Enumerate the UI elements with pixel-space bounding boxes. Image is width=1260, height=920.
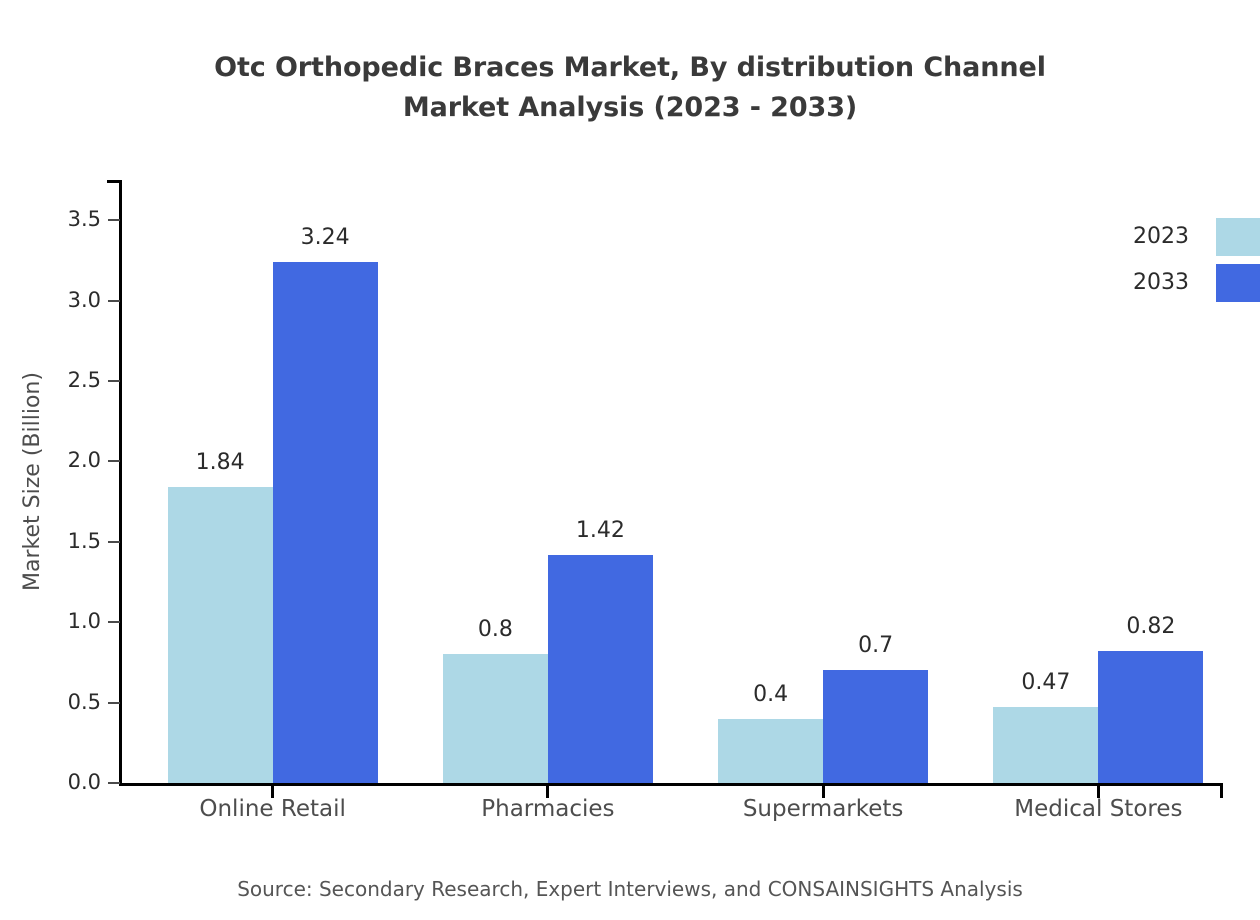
bar-2023-pharmacies[interactable]	[443, 654, 548, 783]
y-axis-tick-label: 2.0	[36, 450, 101, 471]
y-axis-tick	[108, 460, 120, 462]
x-axis-tick-label: Supermarkets	[743, 795, 904, 823]
y-axis-tick	[108, 219, 120, 221]
legend-swatch-2033	[1216, 264, 1260, 302]
x-axis-end-tick	[1220, 783, 1223, 798]
legend-item-2023[interactable]: 2023	[1118, 214, 1260, 260]
source-note: Source: Secondary Research, Expert Inter…	[0, 877, 1260, 901]
y-axis-tick	[108, 702, 120, 704]
bar-value-label: 0.7	[858, 635, 893, 657]
chart-title-line-2: Market Analysis (2023 - 2033)	[0, 88, 1260, 128]
y-axis-tick-label: 2.5	[36, 370, 101, 391]
bar-value-label: 3.24	[301, 227, 350, 249]
chart-title: Otc Orthopedic Braces Market, By distrib…	[0, 48, 1260, 128]
plot-area: 0.00.51.01.52.02.53.03.5 Online RetailPh…	[121, 180, 1222, 783]
legend-label-2033: 2033	[1133, 272, 1189, 294]
bar-value-label: 0.4	[753, 684, 788, 706]
bar-value-label: 1.84	[196, 452, 245, 474]
chart-figure: Otc Orthopedic Braces Market, By distrib…	[0, 0, 1260, 920]
y-axis-tick-label: 0.0	[36, 772, 101, 793]
y-axis-tick	[108, 380, 120, 382]
y-axis-tick	[108, 541, 120, 543]
x-axis-spine	[119, 783, 1223, 786]
legend-label-2023: 2023	[1133, 226, 1189, 248]
legend-item-2033[interactable]: 2033	[1118, 260, 1260, 306]
y-axis-spine	[119, 180, 122, 783]
y-axis-tick-label: 1.0	[36, 611, 101, 632]
y-axis-tick-label: 1.5	[36, 531, 101, 552]
x-axis-tick-label: Medical Stores	[1014, 795, 1182, 823]
bar-value-label: 0.47	[1021, 672, 1070, 694]
bar-2033-pharmacies[interactable]	[548, 555, 653, 783]
bar-2023-online-retail[interactable]	[168, 487, 273, 783]
chart-legend: 2023 2033	[1118, 214, 1260, 306]
y-axis-tick	[108, 300, 120, 302]
y-axis-tick	[108, 782, 120, 784]
bar-value-label: 0.8	[478, 619, 513, 641]
bar-2033-medical-stores[interactable]	[1098, 651, 1203, 783]
y-axis-tick	[108, 621, 120, 623]
bar-value-label: 1.42	[576, 520, 625, 542]
y-axis-tick-label: 0.5	[36, 692, 101, 713]
chart-title-line-1: Otc Orthopedic Braces Market, By distrib…	[0, 48, 1260, 88]
y-axis-top-cap	[107, 180, 120, 183]
bar-2023-supermarkets[interactable]	[718, 719, 823, 783]
bar-value-label: 0.82	[1126, 616, 1175, 638]
bar-2033-online-retail[interactable]	[273, 262, 378, 783]
x-axis-tick-label: Pharmacies	[481, 795, 614, 823]
bar-2023-medical-stores[interactable]	[993, 707, 1098, 783]
legend-swatch-2023	[1216, 218, 1260, 256]
bar-2033-supermarkets[interactable]	[823, 670, 928, 783]
x-axis-tick-label: Online Retail	[199, 795, 346, 823]
y-axis-tick-label: 3.5	[36, 209, 101, 230]
y-axis-tick-label: 3.0	[36, 290, 101, 311]
